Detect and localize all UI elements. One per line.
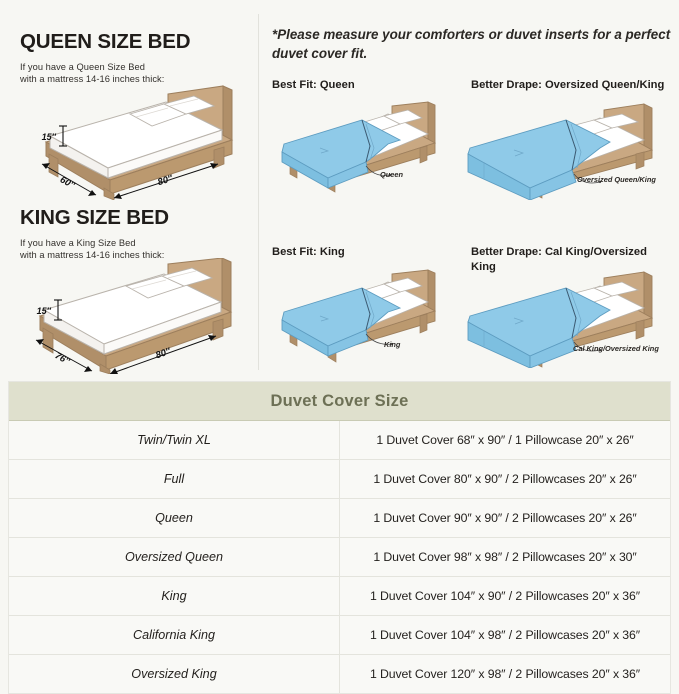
duvet-cover-size-table: Duvet Cover Size Twin/Twin XL1 Duvet Cov… xyxy=(9,382,670,693)
table-row: California King1 Duvet Cover 104″ x 98″ … xyxy=(9,616,670,655)
row-size-label: King xyxy=(9,577,340,616)
row-size-label: Full xyxy=(9,460,340,499)
queen-height-dim: 15″ xyxy=(42,132,57,142)
duvet-caption-oversized-queen-king: Oversized Queen/King xyxy=(577,175,656,184)
panel-title-best-fit-queen: Best Fit: Queen xyxy=(272,78,452,93)
duvet-size-guide-page: QUEEN SIZE BED If you have a Queen Size … xyxy=(0,0,679,679)
table-row: Oversized Queen1 Duvet Cover 98″ x 98″ /… xyxy=(9,538,670,577)
table-row: Queen1 Duvet Cover 90″ x 90″ / 2 Pillowc… xyxy=(9,499,670,538)
king-width-dim: 76″ xyxy=(53,350,72,367)
row-size-label: Queen xyxy=(9,499,340,538)
duvet-caption-king: King xyxy=(384,340,400,349)
row-size-description: 1 Duvet Cover 120″ x 98″ / 2 Pillowcases… xyxy=(340,655,671,694)
duvet-illustration-best-fit-queen xyxy=(270,100,450,196)
table-row: Full1 Duvet Cover 80″ x 90″ / 2 Pillowca… xyxy=(9,460,670,499)
duvet-illustration-best-fit-king xyxy=(270,268,450,366)
duvet-caption-cal-king-oversized-king: Cal King/Oversized King xyxy=(573,344,659,353)
queen-section-subtitle-line1: If you have a Queen Size Bed xyxy=(20,61,190,73)
duvet-fit-column: *Please measure your comforters or duvet… xyxy=(258,0,679,372)
panel-title-best-fit-king: Best Fit: King xyxy=(272,245,452,260)
king-height-dim: 15″ xyxy=(37,306,52,316)
row-size-label: Oversized Queen xyxy=(9,538,340,577)
queen-width-dim: 60″ xyxy=(58,174,77,191)
table-row: Twin/Twin XL1 Duvet Cover 68″ x 90″ / 1 … xyxy=(9,421,670,460)
queen-size-bed-block: QUEEN SIZE BED If you have a Queen Size … xyxy=(20,30,190,85)
table-body: Twin/Twin XL1 Duvet Cover 68″ x 90″ / 1 … xyxy=(9,421,670,694)
bed-sizes-column: QUEEN SIZE BED If you have a Queen Size … xyxy=(0,0,258,372)
table-head: Duvet Cover Size xyxy=(9,382,670,421)
row-size-description: 1 Duvet Cover 68″ x 90″ / 1 Pillowcase 2… xyxy=(340,421,671,460)
table-row: Oversized King1 Duvet Cover 120″ x 98″ /… xyxy=(9,655,670,694)
row-size-description: 1 Duvet Cover 98″ x 98″ / 2 Pillowcases … xyxy=(340,538,671,577)
row-size-label: Twin/Twin XL xyxy=(9,421,340,460)
duvet-illustration-better-drape-queen xyxy=(454,96,669,200)
duvet-caption-queen: Queen xyxy=(380,170,403,179)
table-header-row: Duvet Cover Size xyxy=(9,382,670,421)
row-size-description: 1 Duvet Cover 80″ x 90″ / 2 Pillowcases … xyxy=(340,460,671,499)
row-size-description: 1 Duvet Cover 104″ x 90″ / 2 Pillowcases… xyxy=(340,577,671,616)
table-header-cell: Duvet Cover Size xyxy=(9,382,670,421)
measure-note: *Please measure your comforters or duvet… xyxy=(272,26,672,63)
row-size-description: 1 Duvet Cover 90″ x 90″ / 2 Pillowcases … xyxy=(340,499,671,538)
table-row: King1 Duvet Cover 104″ x 90″ / 2 Pillowc… xyxy=(9,577,670,616)
king-section-subtitle-line1: If you have a King Size Bed xyxy=(20,237,169,249)
queen-bed-illustration: 15″ 60″ 80″ xyxy=(18,84,240,200)
duvet-cover-size-table-wrapper: Duvet Cover Size Twin/Twin XL1 Duvet Cov… xyxy=(8,381,671,694)
king-size-bed-block: KING SIZE BED If you have a King Size Be… xyxy=(20,206,169,261)
king-bed-illustration: 15″ 76″ 80″ xyxy=(18,258,240,374)
king-section-title: KING SIZE BED xyxy=(20,206,169,230)
queen-section-title: QUEEN SIZE BED xyxy=(20,30,190,54)
row-size-label: Oversized King xyxy=(9,655,340,694)
row-size-label: California King xyxy=(9,616,340,655)
row-size-description: 1 Duvet Cover 104″ x 98″ / 2 Pillowcases… xyxy=(340,616,671,655)
panel-title-better-drape-queen: Better Drape: Oversized Queen/King xyxy=(471,78,671,93)
